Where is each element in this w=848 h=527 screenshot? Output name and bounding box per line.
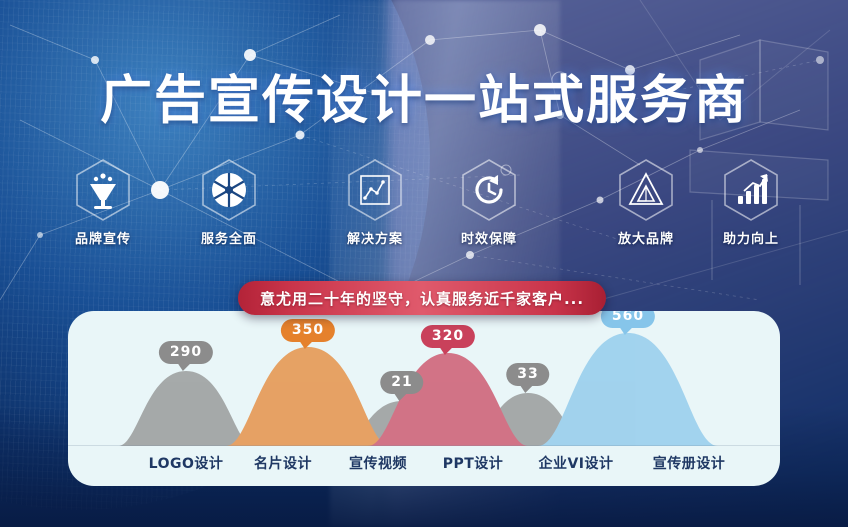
feature-label: 解决方案	[327, 228, 423, 247]
hill-brochure	[538, 333, 718, 446]
feature-item-brand-promotion[interactable]: 品牌宣传	[55, 158, 151, 247]
feature-label: 时效保障	[441, 228, 537, 247]
feature-item-boost-upward[interactable]: 助力向上	[703, 158, 799, 247]
triangle-icon	[617, 158, 675, 222]
hill-logo	[118, 371, 254, 446]
feature-item-full-service[interactable]: 服务全面	[181, 158, 277, 247]
megaphone-icon	[74, 158, 132, 222]
page-title: 广告宣传设计一站式服务商	[0, 58, 848, 133]
feature-label: 助力向上	[703, 228, 799, 247]
data-bubble-logo: 290	[159, 341, 213, 364]
feature-label: 放大品牌	[598, 228, 694, 247]
category-label-logo: LOGO设计	[149, 453, 224, 473]
data-bubble-namecard: 350	[281, 319, 335, 342]
feature-item-amplify-brand[interactable]: 放大品牌	[598, 158, 694, 247]
category-label-video: 宣传视频	[349, 453, 407, 473]
data-bubble-vi: 33	[506, 363, 549, 386]
feature-label: 品牌宣传	[55, 228, 151, 247]
data-bubble-ppt: 320	[421, 325, 475, 348]
chart-panel: 290 350 21 320 33 560 LOGO设计 名片设计 宣传视频 P…	[68, 311, 780, 486]
category-label-brochure: 宣传册设计	[653, 453, 726, 473]
promo-ribbon-text: 意尤用二十年的坚守，认真服务近千家客户...	[260, 288, 584, 309]
data-bubble-video: 21	[380, 371, 423, 394]
clock-rotate-icon	[460, 158, 518, 222]
chart-category-labels: LOGO设计 名片设计 宣传视频 PPT设计 企业VI设计 宣传册设计	[68, 453, 780, 483]
feature-item-timeliness[interactable]: 时效保障	[441, 158, 537, 247]
hill-namecard	[226, 347, 390, 446]
bar-chart-arrow-icon	[722, 158, 780, 222]
camera-aperture-icon	[200, 158, 258, 222]
promo-ribbon: 意尤用二十年的坚守，认真服务近千家客户...	[238, 281, 606, 315]
category-label-vi: 企业VI设计	[538, 453, 613, 473]
data-bubble-brochure: 560	[601, 311, 655, 328]
feature-icon-row: 品牌宣传 服务全面	[55, 158, 795, 250]
chart-baseline	[68, 445, 780, 446]
line-chart-icon	[346, 158, 404, 222]
category-label-namecard: 名片设计	[254, 453, 312, 473]
category-label-ppt: PPT设计	[443, 453, 504, 473]
feature-label: 服务全面	[181, 228, 277, 247]
feature-item-solutions[interactable]: 解决方案	[327, 158, 423, 247]
